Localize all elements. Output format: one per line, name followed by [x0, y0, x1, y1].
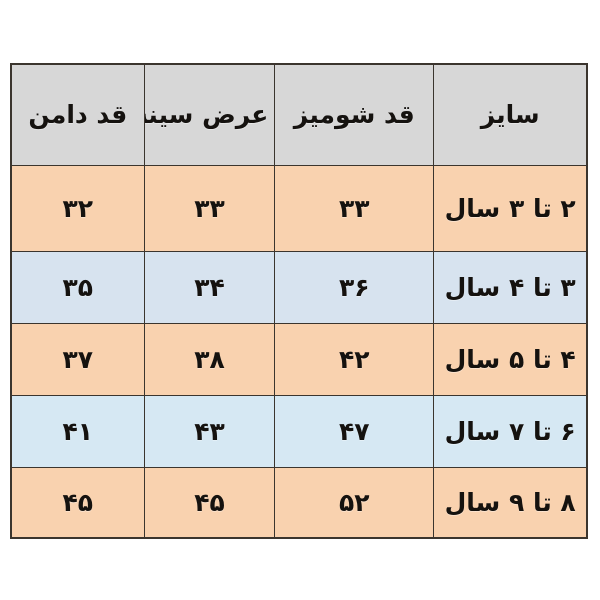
size-chart-table: سایز قد شومیز عرض سینه قد دامن ۲ تا ۳ سا… [10, 63, 588, 539]
table-body: ۲ تا ۳ سال ۳۳ ۳۳ ۳۲ ۳ تا ۴ سال ۳۶ ۳۴ ۳۵ … [11, 165, 587, 538]
cell-skirt-length: ۳۵ [11, 251, 144, 323]
cell-size: ۳ تا ۴ سال [434, 251, 587, 323]
cell-shirt-length: ۳۶ [275, 251, 434, 323]
column-header-shirt-length: قد شومیز [275, 64, 434, 165]
cell-shirt-length: ۴۷ [275, 395, 434, 467]
cell-chest-width: ۳۳ [144, 165, 275, 251]
table-row: ۸ تا ۹ سال ۵۲ ۴۵ ۴۵ [11, 467, 587, 538]
cell-size: ۴ تا ۵ سال [434, 323, 587, 395]
table-row: ۶ تا ۷ سال ۴۷ ۴۳ ۴۱ [11, 395, 587, 467]
cell-skirt-length: ۴۱ [11, 395, 144, 467]
cell-size: ۲ تا ۳ سال [434, 165, 587, 251]
column-header-skirt-length: قد دامن [11, 64, 144, 165]
cell-skirt-length: ۴۵ [11, 467, 144, 538]
cell-chest-width: ۴۳ [144, 395, 275, 467]
cell-chest-width: ۳۸ [144, 323, 275, 395]
cell-shirt-length: ۳۳ [275, 165, 434, 251]
column-header-size: سایز [434, 64, 587, 165]
cell-shirt-length: ۵۲ [275, 467, 434, 538]
cell-chest-width: ۴۵ [144, 467, 275, 538]
table-row: ۴ تا ۵ سال ۴۲ ۳۸ ۳۷ [11, 323, 587, 395]
cell-size: ۶ تا ۷ سال [434, 395, 587, 467]
header-row: سایز قد شومیز عرض سینه قد دامن [11, 64, 587, 165]
cell-skirt-length: ۳۷ [11, 323, 144, 395]
table-row: ۲ تا ۳ سال ۳۳ ۳۳ ۳۲ [11, 165, 587, 251]
table-row: ۳ تا ۴ سال ۳۶ ۳۴ ۳۵ [11, 251, 587, 323]
size-chart-container: سایز قد شومیز عرض سینه قد دامن ۲ تا ۳ سا… [10, 63, 588, 528]
column-header-chest-width: عرض سینه [144, 64, 275, 165]
cell-skirt-length: ۳۲ [11, 165, 144, 251]
table-header: سایز قد شومیز عرض سینه قد دامن [11, 64, 587, 165]
cell-size: ۸ تا ۹ سال [434, 467, 587, 538]
cell-chest-width: ۳۴ [144, 251, 275, 323]
cell-shirt-length: ۴۲ [275, 323, 434, 395]
